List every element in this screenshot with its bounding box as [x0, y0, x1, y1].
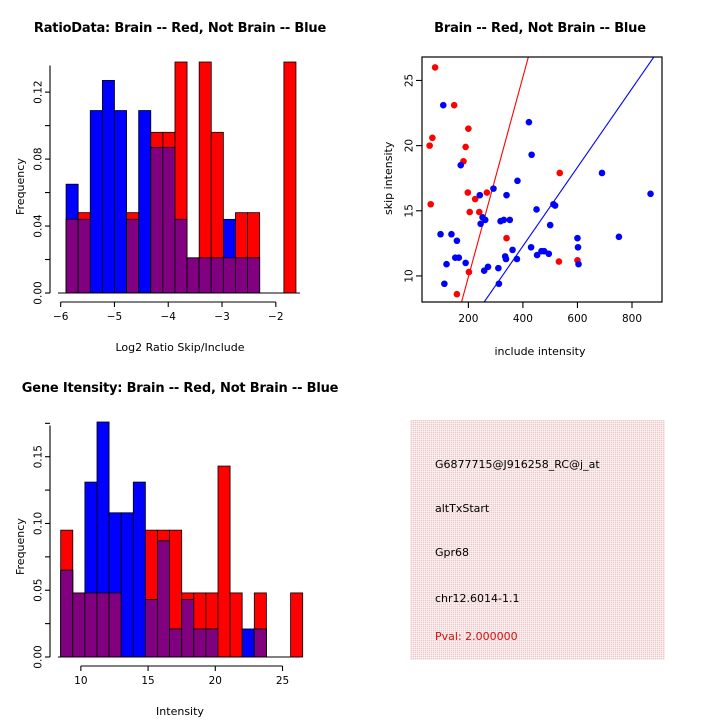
y-tick-label: 0.12 — [33, 80, 45, 103]
scatter-point-not-brain-blue — [538, 248, 545, 255]
scatter-point-not-brain-blue — [575, 261, 582, 268]
bar-overlap-purple — [151, 147, 163, 293]
event-type-text: altTxStart — [435, 502, 489, 515]
scatter-point-brain-red — [454, 291, 461, 298]
panel-annotation-info: G6877715@J916258_RC@j_at altTxStart Gpr6… — [360, 360, 720, 720]
gene-histogram-title: Gene Itensity: Brain -- Red, Not Brain -… — [0, 381, 360, 396]
scatter-point-brain-red — [556, 170, 563, 177]
x-axis — [81, 666, 283, 671]
scatter-point-brain-red — [432, 64, 439, 71]
y-tick-label: 0.04 — [33, 214, 45, 238]
scatter-point-not-brain-blue — [437, 231, 444, 238]
panel-gene-intensity-histogram: Gene Itensity: Brain -- Red, Not Brain -… — [0, 360, 360, 720]
bar-not-brain-blue — [133, 482, 145, 657]
scatter-point-not-brain-blue — [496, 280, 503, 287]
scatter-point-not-brain-blue — [448, 231, 455, 238]
bar-overlap-purple — [66, 219, 78, 293]
panel-ratio-histogram: RatioData: Brain -- Red, Not Brain -- Bl… — [0, 0, 360, 360]
scatter-point-not-brain-blue — [547, 222, 554, 229]
scatter-point-not-brain-blue — [546, 250, 553, 257]
scatter-point-not-brain-blue — [477, 192, 484, 199]
bar-brain-red — [230, 593, 242, 657]
scatter-point-not-brain-blue — [477, 221, 484, 228]
x-tick-label: −4 — [161, 311, 177, 323]
bar-overlap-purple — [187, 258, 199, 293]
scatter-point-not-brain-blue — [495, 265, 502, 272]
bar-brain-red — [218, 466, 230, 657]
bar-not-brain-blue — [242, 629, 254, 657]
bar-overlap-purple — [211, 258, 223, 293]
bar-overlap-purple — [175, 219, 187, 293]
scatter-point-not-brain-blue — [507, 217, 514, 224]
scatter-point-not-brain-blue — [574, 235, 581, 242]
y-axis — [416, 80, 422, 275]
y-tick-label: 20 — [404, 139, 416, 152]
bar-overlap-purple — [235, 258, 247, 293]
scatter-point-brain-red — [465, 189, 472, 196]
x-tick-label: 10 — [74, 675, 87, 687]
bar-overlap-purple — [163, 147, 175, 293]
scatter-point-brain-red — [503, 235, 510, 242]
ratio-histogram-plot: 0.000.040.080.12−6−5−4−3−2 — [0, 0, 360, 360]
bar-overlap-purple — [248, 258, 260, 293]
x-tick-label: −5 — [107, 311, 122, 323]
histogram-bars — [61, 422, 303, 657]
scatter-point-not-brain-blue — [497, 218, 504, 225]
bar-not-brain-blue — [114, 111, 126, 293]
probeset-id-text: G6877715@J916258_RC@j_at — [435, 458, 600, 471]
bar-overlap-purple — [127, 219, 139, 293]
scatter-point-not-brain-blue — [599, 170, 606, 177]
scatter-point-not-brain-blue — [647, 191, 654, 198]
y-tick-label: 15 — [404, 204, 416, 217]
scatter-point-not-brain-blue — [575, 244, 582, 251]
figure-canvas: RatioData: Brain -- Red, Not Brain -- Bl… — [0, 0, 720, 720]
scatter-point-brain-red — [451, 102, 458, 109]
bar-overlap-purple — [97, 593, 109, 657]
bar-overlap-purple — [145, 600, 157, 657]
bar-overlap-purple — [254, 629, 266, 657]
scatter-point-brain-red — [466, 209, 473, 216]
bar-overlap-purple — [85, 593, 97, 657]
bar-overlap-purple — [182, 600, 194, 657]
y-tick-label: 25 — [404, 74, 416, 87]
y-tick-label: 0.15 — [33, 445, 45, 468]
bar-overlap-purple — [109, 593, 121, 657]
y-axis — [45, 423, 50, 657]
scatter-plot-xlabel: include intensity — [360, 345, 720, 358]
bar-not-brain-blue — [121, 513, 133, 657]
bar-not-brain-blue — [139, 111, 151, 293]
y-tick-label: 10 — [404, 269, 416, 282]
scatter-point-not-brain-blue — [443, 261, 450, 268]
scatter-inner — [426, 57, 654, 302]
bar-overlap-purple — [61, 570, 73, 657]
scatter-point-brain-red — [427, 201, 434, 208]
scatter-point-not-brain-blue — [485, 264, 492, 271]
bar-overlap-purple — [157, 541, 169, 657]
scatter-point-not-brain-blue — [616, 234, 623, 241]
x-tick-label: −3 — [214, 311, 229, 323]
x-tick-label: 15 — [141, 675, 154, 687]
scatter-point-not-brain-blue — [440, 102, 447, 109]
scatter-point-not-brain-blue — [528, 151, 535, 158]
bar-not-brain-blue — [102, 80, 114, 293]
bar-brain-red — [291, 593, 303, 657]
histogram-bars — [66, 62, 296, 293]
bar-brain-red — [284, 62, 296, 293]
panel-scatter-plot: Brain -- Red, Not Brain -- Blue include … — [360, 0, 720, 360]
gene-histogram-ylabel: Frequency — [14, 518, 27, 575]
x-axis — [468, 302, 632, 308]
plot-frame — [422, 57, 662, 302]
scatter-point-not-brain-blue — [490, 185, 497, 192]
scatter-point-brain-red — [556, 258, 563, 265]
y-tick-label: 0.08 — [33, 147, 45, 170]
scatter-point-not-brain-blue — [503, 192, 510, 199]
bar-overlap-purple — [194, 629, 206, 657]
scatter-point-not-brain-blue — [503, 256, 510, 263]
scatter-point-not-brain-blue — [456, 254, 463, 261]
y-axis — [45, 65, 50, 293]
x-tick-label: 20 — [209, 675, 222, 687]
y-tick-label: 0.00 — [33, 645, 45, 668]
scatter-point-not-brain-blue — [454, 237, 461, 244]
scatter-point-brain-red — [429, 134, 436, 141]
pvalue-text: Pval: 2.000000 — [435, 630, 518, 643]
scatter-point-not-brain-blue — [526, 119, 533, 126]
y-tick-label: 0.10 — [33, 512, 45, 535]
scatter-plot-title: Brain -- Red, Not Brain -- Blue — [360, 21, 720, 36]
gene-histogram-plot: 0.000.050.100.1510152025 — [0, 360, 360, 720]
scatter-plot-canvas: 10152025200400600800 — [360, 0, 720, 360]
scatter-point-not-brain-blue — [441, 280, 448, 287]
x-tick-label: 25 — [276, 675, 289, 687]
x-tick-label: 600 — [567, 313, 587, 325]
bar-overlap-purple — [73, 593, 85, 657]
bar-overlap-purple — [170, 629, 182, 657]
x-tick-label: −6 — [53, 311, 69, 323]
scatter-point-brain-red — [466, 269, 473, 276]
scatter-point-not-brain-blue — [462, 260, 469, 267]
scatter-plot-ylabel: skip intensity — [382, 142, 395, 215]
scatter-point-not-brain-blue — [533, 206, 540, 213]
scatter-point-not-brain-blue — [552, 202, 559, 209]
bar-not-brain-blue — [90, 111, 102, 293]
ratio-histogram-ylabel: Frequency — [14, 158, 27, 215]
scatter-point-brain-red — [426, 142, 433, 149]
bar-overlap-purple — [199, 258, 211, 293]
blue-fit-line — [484, 57, 654, 302]
scatter-point-brain-red — [465, 125, 472, 132]
x-tick-label: 800 — [622, 313, 642, 325]
scatter-point-not-brain-blue — [514, 178, 521, 185]
x-axis — [61, 302, 276, 307]
ratio-histogram-xlabel: Log2 Ratio Skip/Include — [0, 341, 360, 354]
x-tick-label: −2 — [268, 311, 283, 323]
scatter-point-not-brain-blue — [528, 244, 535, 251]
y-tick-label: 0.00 — [33, 281, 45, 304]
gene-histogram-xlabel: Intensity — [0, 705, 360, 718]
scatter-point-brain-red — [462, 144, 469, 151]
scatter-point-not-brain-blue — [457, 162, 464, 169]
bar-overlap-purple — [206, 629, 218, 657]
scatter-point-not-brain-blue — [514, 256, 521, 263]
ratio-histogram-title: RatioData: Brain -- Red, Not Brain -- Bl… — [0, 21, 360, 36]
bar-overlap-purple — [223, 258, 235, 293]
bar-overlap-purple — [78, 219, 90, 293]
locus-text: chr12.6014-1.1 — [435, 592, 520, 605]
gene-symbol-text: Gpr68 — [435, 546, 469, 559]
annotation-box: G6877715@J916258_RC@j_at altTxStart Gpr6… — [410, 420, 665, 660]
y-tick-label: 0.05 — [33, 579, 45, 602]
scatter-point-not-brain-blue — [509, 247, 516, 254]
scatter-point-brain-red — [484, 189, 491, 196]
x-tick-label: 200 — [458, 313, 478, 325]
x-tick-label: 400 — [513, 313, 533, 325]
